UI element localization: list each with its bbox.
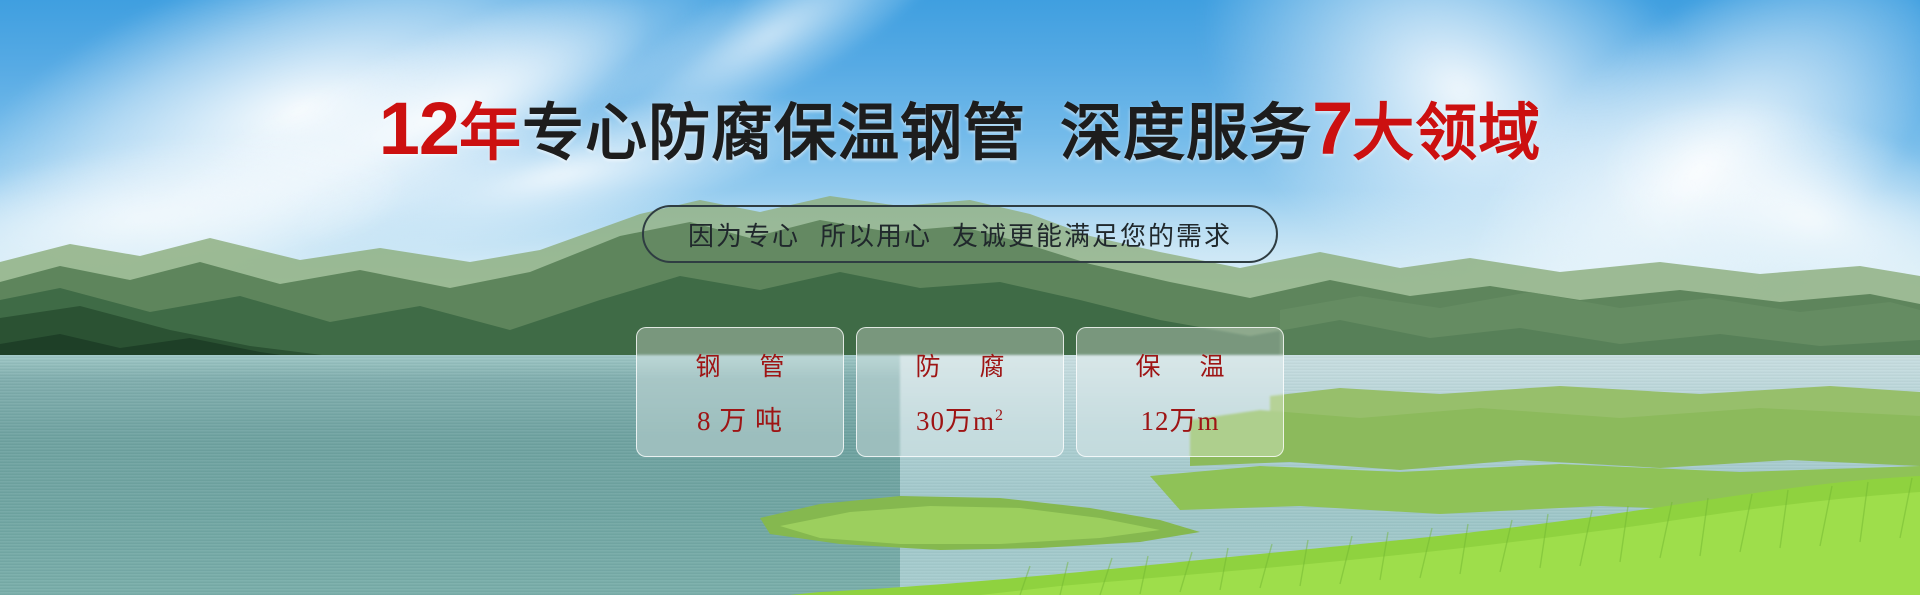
stat-card-value: 12万m (1140, 399, 1219, 438)
headline-service-text: 深度服务 (1060, 99, 1312, 168)
subtitle-pill: 因为专心所以用心友诚更能满足您的需求 (642, 205, 1278, 263)
stat-card-value-text: 30万m (916, 406, 995, 436)
stat-card-value-superscript: 2 (995, 407, 1004, 424)
subtitle-part-3: 友诚更能满足您的需求 (952, 216, 1232, 253)
subtitle-part-1: 因为专心 (688, 216, 800, 253)
headline-main-text: 专心防腐保温钢管 (522, 99, 1026, 168)
stat-card-value-text: 12万m (1140, 406, 1219, 436)
subtitle-part-2: 所以用心 (820, 216, 932, 253)
hero-banner: 12年专心防腐保温钢管深度服务7大领域 因为专心所以用心友诚更能满足您的需求 钢… (0, 0, 1920, 595)
stat-card-label: 保 温 (1128, 347, 1231, 383)
stat-card-value: 30万m2 (916, 399, 1004, 438)
headline-fields-unit: 大领域 (1352, 99, 1541, 168)
headline: 12年专心防腐保温钢管深度服务7大领域 (0, 92, 1920, 166)
stat-card-value-text: 8 万 吨 (697, 406, 783, 436)
headline-years-number: 12 (379, 87, 459, 170)
headline-fields-number: 7 (1312, 87, 1352, 170)
stat-card-group: 钢 管 8 万 吨 防 腐 30万m2 保 温 12万m (636, 327, 1284, 457)
stat-card-label: 钢 管 (688, 347, 791, 383)
headline-years-unit: 年 (459, 99, 522, 168)
stat-card-steel-pipe: 钢 管 8 万 吨 (636, 327, 844, 457)
stat-card-value: 8 万 吨 (697, 399, 783, 438)
stat-card-label: 防 腐 (908, 347, 1011, 383)
stat-card-anticorrosion: 防 腐 30万m2 (856, 327, 1064, 457)
stat-card-insulation: 保 温 12万m (1076, 327, 1284, 457)
